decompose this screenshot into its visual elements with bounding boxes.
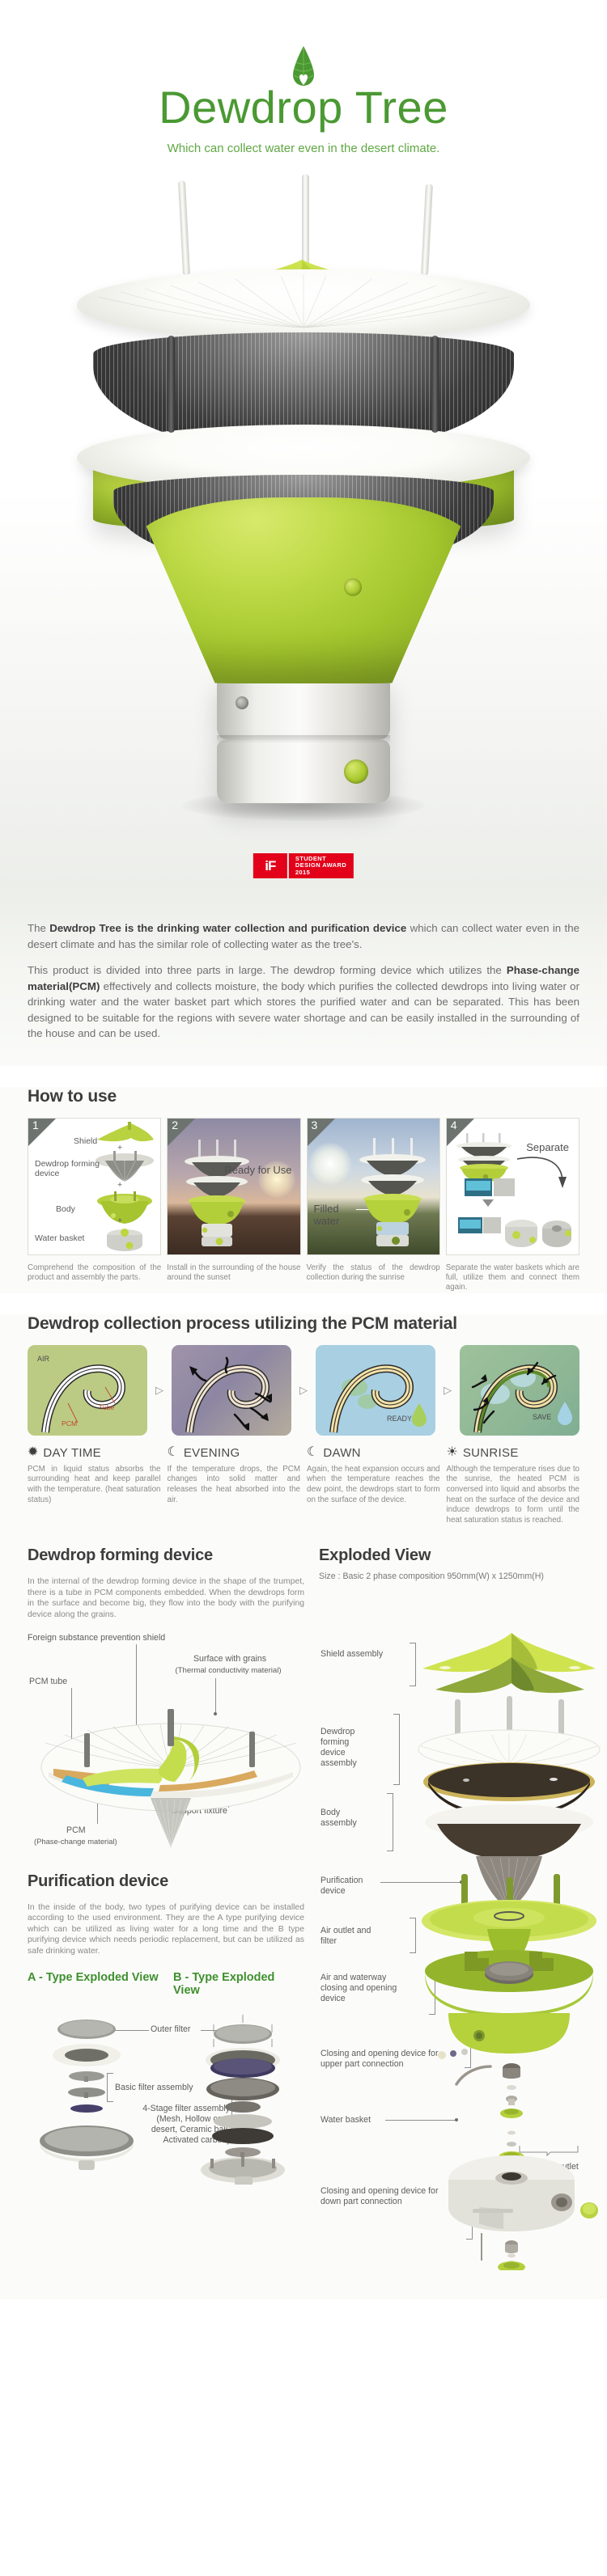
footer-spacer [0, 2278, 607, 2299]
product-hero-image [0, 174, 607, 813]
intro-description: The Dewdrop Tree is the drinking water c… [0, 890, 607, 1066]
award-line-3: 2015 [295, 869, 346, 877]
panel4-overlay-label: Separate [526, 1141, 569, 1153]
how-to-use-captions: Comprehend the composition of the produc… [28, 1263, 579, 1293]
purification-type-headers: A - Type Exploded View B - Type Exploded… [28, 1971, 304, 1997]
type-a-exploded-graphic [42, 2018, 131, 2123]
panel1-label-shield: Shield [74, 1136, 97, 1146]
label-air-waterway-device: Air and waterway closing and opening dev… [320, 1973, 405, 2004]
panel-number: 3 [312, 1119, 318, 1131]
pcm-tube-diagram-3 [316, 1345, 435, 1436]
panel4-separated-baskets [458, 1212, 571, 1253]
body-knob [344, 578, 362, 596]
pcm-separator-3: ▷ [444, 1384, 452, 1397]
lower-two-column-section: Dewdrop forming device In the internal o… [0, 1525, 607, 2278]
pcm-cell-3: READY [316, 1345, 435, 1436]
if-logo: iF [253, 853, 287, 878]
pcm-label-ready: READY [387, 1415, 412, 1423]
bracket-body [387, 1793, 393, 1851]
panel-number: 1 [32, 1119, 39, 1131]
pcm-stage-sunrise: ☀ SUNRISE Although the temperature rises… [447, 1446, 580, 1526]
intro-p2-pre: This product is divided into three parts… [28, 964, 507, 976]
bracket-shield [410, 1643, 416, 1686]
forming-device-heading: Dewdrop forming device [28, 1546, 304, 1565]
how-to-use-panel-2: 2 Ready for Use [167, 1118, 300, 1255]
award-text: STUDENT DESIGN AWARD 2015 [289, 853, 354, 878]
pcm-cells-row: AIR Tube PCM ▷ [28, 1345, 579, 1436]
bracket-forming-device [393, 1714, 400, 1785]
support-rod [431, 336, 439, 433]
bracket-air-outlet [410, 1918, 416, 1953]
intro-paragraph-1: The Dewdrop Tree is the drinking water c… [28, 920, 579, 952]
how-to-use-panel-1: 1 Shield Dewdrop forming device Body Wat… [28, 1118, 161, 1255]
pcm-stage-evening: ☾ EVENING If the temperature drops, the … [168, 1446, 301, 1526]
panel1-plus-2: + [117, 1180, 122, 1190]
pcm-stage-text: Although the temperature rises due to th… [447, 1465, 580, 1526]
pcm-stage-title: EVENING [184, 1446, 240, 1460]
pcm-stage-header: ☀ SUNRISE [447, 1446, 580, 1460]
panel1-plus-1: + [117, 1143, 122, 1153]
pcm-tube-diagram-2 [172, 1345, 291, 1436]
pcm-stage-title: DAY TIME [43, 1446, 101, 1460]
label-outer-filter: Outer filter [151, 2024, 190, 2035]
pcm-label-tube: Tube [99, 1403, 114, 1411]
pcm-stage-header: ☾ DAWN [307, 1446, 440, 1460]
exploded-view-diagram: Shield assembly Dewdrop forming device a… [319, 1591, 579, 2278]
pcm-separator-2: ▷ [299, 1384, 308, 1397]
purification-exploded-diagram: Outer filter Basic filter assembly 4-Sta… [28, 2003, 304, 2197]
left-column: Dewdrop forming device In the internal o… [28, 1525, 304, 2278]
panel4-assembled-graphic [453, 1133, 516, 1185]
how-to-use-caption-1: Comprehend the composition of the produc… [28, 1263, 161, 1293]
pcm-stage-text: Again, the heat expansion occurs and whe… [307, 1465, 440, 1505]
crescent-moon-icon: ☾ [307, 1446, 318, 1459]
body-green-funnel [134, 497, 473, 683]
label-prevention-shield: Foreign substance prevention shield [28, 1633, 165, 1643]
purification-heading: Purification device [28, 1872, 304, 1891]
label-purification-device: Purification device [320, 1876, 377, 1897]
label-pcm-tube: PCM tube [29, 1677, 67, 1687]
pcm-stages-row: ✹ DAY TIME PCM in liquid status absorbs … [28, 1446, 579, 1526]
panel1-label-water-basket: Water basket [35, 1233, 84, 1243]
intro-p1-bold: Dewdrop Tree is the drinking water colle… [49, 922, 406, 934]
two-column-layout: Dewdrop forming device In the internal o… [28, 1525, 579, 2278]
down-arrow-icon [482, 1199, 494, 1207]
pcm-stage-text: PCM in liquid status absorbs the surroun… [28, 1465, 161, 1505]
page-title: Dewdrop Tree [0, 81, 607, 133]
how-to-use-section: How to use 1 Shield Dewdrop forming devi… [0, 1087, 607, 1293]
type-a-heading: A - Type Exploded View [28, 1971, 159, 1997]
intro-p1-pre: The [28, 922, 49, 934]
panel3-product-graphic [355, 1138, 430, 1248]
pcm-stage-header: ☾ EVENING [168, 1446, 301, 1460]
pcm-stage-day-time: ✹ DAY TIME PCM in liquid status absorbs … [28, 1446, 161, 1526]
forming-device-diagram: Foreign substance prevention shield Surf… [28, 1633, 304, 1851]
panel1-label-body: Body [56, 1204, 75, 1214]
label-air-outlet-filter: Air outlet and filter [320, 1926, 384, 1947]
how-to-use-caption-4: Separate the water baskets which are ful… [446, 1263, 579, 1293]
exploded-view-size: Size : Basic 2 phase composition 950mm(W… [319, 1571, 579, 1581]
panel2-overlay-label: Ready for Use [224, 1164, 291, 1176]
basket-port [236, 696, 248, 709]
pcm-stage-dawn: ☾ DAWN Again, the heat expansion occurs … [307, 1446, 440, 1526]
panel-number: 4 [451, 1119, 457, 1131]
pcm-heading: Dewdrop collection process utilizing the… [28, 1314, 579, 1334]
pcm-stage-text: If the temperature drops, the PCM change… [168, 1465, 301, 1505]
pcm-stage-title: SUNRISE [463, 1446, 519, 1460]
exploded-parts-graphic [416, 1631, 602, 2270]
panel3-overlay-label: Filled water [314, 1203, 359, 1227]
label-water-basket: Water basket [320, 2115, 380, 2126]
panel1-plus-3: + [117, 1216, 122, 1225]
label-shield-assembly: Shield assembly [320, 1649, 395, 1660]
sun-icon: ✹ [28, 1446, 38, 1459]
crescent-moon-icon: ☾ [168, 1446, 179, 1459]
pcm-label-air: AIR [37, 1355, 49, 1363]
panel1-label-forming-device: Dewdrop forming device [35, 1159, 109, 1178]
pcm-separator-1: ▷ [155, 1384, 163, 1397]
pcm-cell-1: AIR Tube PCM [28, 1345, 147, 1436]
label-body-assembly: Body assembly [320, 1808, 371, 1829]
support-rod [421, 184, 433, 276]
intro-p2-post: effectively and collects moisture, the b… [28, 980, 579, 1040]
label-surface-grains: Surface with grains [157, 1654, 303, 1664]
pcm-cell-2 [172, 1345, 291, 1436]
panel2-product-graphic [180, 1140, 253, 1246]
type-b-exploded-graphic [186, 2015, 299, 2185]
outlet-cork [344, 759, 368, 784]
how-to-use-panel-4: 4 Separate [446, 1118, 579, 1255]
forming-device-cross-section [37, 1698, 304, 1851]
pcm-label-save: SAVE [533, 1413, 551, 1421]
panel1-exploded-graphic [89, 1122, 157, 1253]
curved-arrow-icon [516, 1154, 572, 1191]
panel-number: 2 [172, 1119, 178, 1131]
label-surface-grains-sub: (Thermal conductivity material) [149, 1665, 308, 1676]
label-forming-device-assembly: Dewdrop forming device assembly [320, 1727, 371, 1769]
how-to-use-heading: How to use [28, 1087, 579, 1106]
pcm-label-pcm: PCM [62, 1419, 77, 1428]
purification-text: In the inside of the body, two types of … [28, 1902, 304, 1956]
page-subtitle: Which can collect water even in the dese… [0, 142, 607, 155]
pcm-cell-4: SAVE [460, 1345, 579, 1436]
pcm-tube-diagram-4 [460, 1345, 579, 1436]
support-rod [178, 180, 190, 276]
intro-paragraph-2: This product is divided into three parts… [28, 962, 579, 1042]
forming-device-text: In the internal of the dewdrop forming d… [28, 1576, 304, 1620]
grain-texture [93, 264, 514, 332]
pcm-process-section: Dewdrop collection process utilizing the… [0, 1314, 607, 1526]
panel4-basket-section [465, 1178, 515, 1196]
support-rod [168, 336, 175, 433]
sunrise-sun-icon: ☀ [447, 1446, 458, 1459]
type-a-housing [34, 2125, 139, 2175]
how-to-use-panel-3: 3 Filled water [307, 1118, 440, 1255]
type-b-heading: B - Type Exploded View [173, 1971, 304, 1997]
pcm-stage-header: ✹ DAY TIME [28, 1446, 161, 1460]
pcm-stage-title: DAWN [323, 1446, 360, 1460]
right-column: Exploded View Size : Basic 2 phase compo… [319, 1525, 579, 2278]
how-to-use-caption-2: Install in the surrounding of the house … [167, 1263, 300, 1293]
how-to-use-caption-3: Verify the status of the dewdrop collect… [307, 1263, 440, 1293]
hero-section: Dewdrop Tree Which can collect water eve… [0, 0, 607, 890]
award-badge: iF STUDENT DESIGN AWARD 2015 [253, 853, 354, 878]
how-to-use-panels: 1 Shield Dewdrop forming device Body Wat… [28, 1118, 579, 1255]
sun-glow [309, 1143, 351, 1185]
exploded-view-heading: Exploded View [319, 1546, 579, 1565]
basket-seam [217, 735, 390, 743]
infographic-page: Dewdrop Tree Which can collect water eve… [0, 0, 607, 2576]
